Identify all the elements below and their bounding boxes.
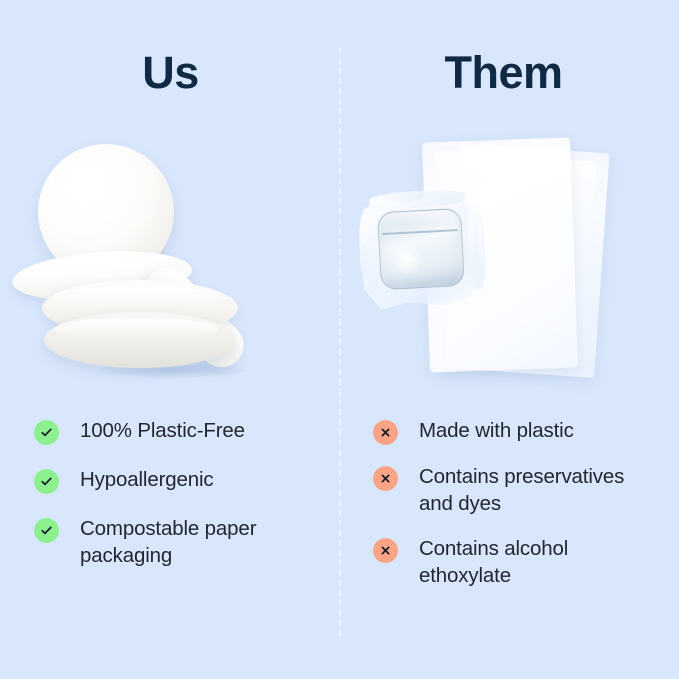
heading-them: Them — [340, 48, 679, 98]
list-item: Hypoallergenic — [34, 467, 305, 494]
list-item-label: Compostable paper packaging — [80, 516, 305, 569]
list-item-label: Contains alcohol ethoxylate — [419, 536, 663, 589]
product-image-us — [0, 130, 339, 400]
list-item: Contains alcohol ethoxylate — [373, 536, 663, 589]
benefits-list: 100% Plastic-Free Hypoallergenic Compost… — [0, 418, 339, 591]
list-item: Contains preservatives and dyes — [373, 464, 663, 517]
tablet-disc-highlight — [52, 286, 220, 308]
heading-us: Us — [0, 48, 339, 98]
cross-icon — [373, 466, 398, 491]
list-item: Compostable paper packaging — [34, 516, 305, 569]
liquid-pod — [377, 208, 465, 290]
column-us: Us — [0, 0, 339, 679]
pod-gloss — [388, 238, 427, 280]
product-image-them — [340, 130, 679, 400]
cross-icon — [373, 538, 398, 563]
check-icon — [34, 518, 59, 543]
list-item: 100% Plastic-Free — [34, 418, 305, 445]
list-item-label: Made with plastic — [419, 418, 574, 445]
list-item: Made with plastic — [373, 418, 663, 445]
list-item-label: 100% Plastic-Free — [80, 418, 245, 445]
tablet-stack-illustration — [0, 130, 339, 400]
liquid-sachet — [355, 187, 489, 314]
check-icon — [34, 420, 59, 445]
pod-liquid-line — [382, 229, 458, 235]
column-them: Them — [340, 0, 679, 679]
list-item-label: Contains preservatives and dyes — [419, 464, 663, 517]
comparison-infographic: Us — [0, 0, 679, 679]
tablet-disc-bottom — [44, 312, 236, 368]
plastic-packaging-illustration — [340, 130, 679, 400]
cross-icon — [373, 420, 398, 445]
drawbacks-list: Made with plastic Contains preservatives… — [340, 418, 679, 609]
list-item-label: Hypoallergenic — [80, 467, 214, 494]
tablet-disc-highlight — [54, 318, 218, 340]
check-icon — [34, 469, 59, 494]
